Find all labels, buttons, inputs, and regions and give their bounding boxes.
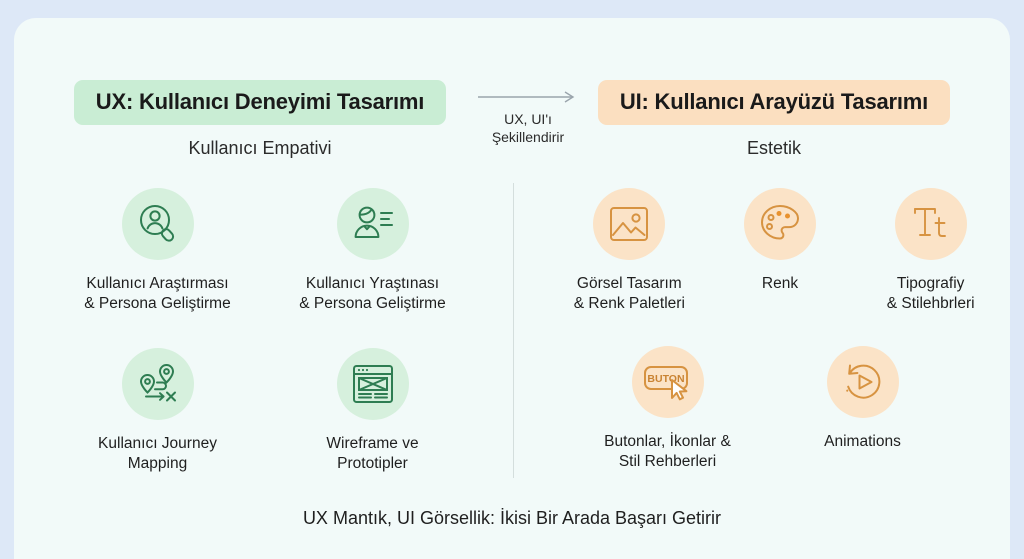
footer-tagline: UX Mantık, UI Görsellik: İkisi Bir Arada… xyxy=(14,508,1010,529)
journey-map-icon xyxy=(122,348,194,420)
ux-items-row-1: Kullanıcı Araştırması & Persona Geliştir… xyxy=(50,188,480,314)
ux-column-header: UX: Kullanıcı Deneyimi Tasarımı Kullanıc… xyxy=(50,80,470,159)
user-search-icon xyxy=(122,188,194,260)
ui-item-typography[interactable]: Tipografiy & Stilehbrleri xyxy=(855,188,1006,314)
arrow-right-icon xyxy=(469,90,587,104)
ux-badge: UX: Kullanıcı Deneyimi Tasarımı xyxy=(74,80,446,125)
ux-subtitle: Kullanıcı Empativi xyxy=(50,138,470,159)
ux-item-user-research[interactable]: Kullanıcı Araştırması & Persona Geliştir… xyxy=(50,188,265,314)
animation-icon xyxy=(827,346,899,418)
ui-item-buttons[interactable]: BUTON Butonlar, İkonlar & Stil Rehberler… xyxy=(570,346,765,472)
image-icon xyxy=(593,188,665,260)
item-label: Görsel Tasarım & Renk Paletleri xyxy=(558,274,701,314)
ux-item-wireframe[interactable]: Wireframe ve Prototipler xyxy=(265,348,480,474)
ui-badge: UI: Kullanıcı Arayüzü Tasarımı xyxy=(598,80,950,125)
item-label: Kullanıcı Journey Mapping xyxy=(54,434,261,474)
column-divider xyxy=(513,183,514,478)
item-label: Tipografiy & Stilehbrleri xyxy=(859,274,1002,314)
ui-items-row-1: Görsel Tasarım & Renk Paletleri Renk xyxy=(554,188,1006,314)
ui-items-row-2: BUTON Butonlar, İkonlar & Stil Rehberler… xyxy=(570,346,960,472)
ui-item-visual-design[interactable]: Görsel Tasarım & Renk Paletleri xyxy=(554,188,705,314)
ui-item-color[interactable]: Renk xyxy=(705,188,856,314)
button-cursor-icon: BUTON xyxy=(632,346,704,418)
item-label: Animations xyxy=(769,432,956,452)
palette-icon xyxy=(744,188,816,260)
wireframe-icon xyxy=(337,348,409,420)
ui-column-header: UI: Kullanıcı Arayüzü Tasarımı Estetik xyxy=(574,80,974,159)
item-label: Renk xyxy=(709,274,852,294)
ux-item-journey-mapping[interactable]: Kullanıcı Journey Mapping xyxy=(50,348,265,474)
ux-items-row-2: Kullanıcı Journey Mapping xyxy=(50,348,480,474)
item-label: Wireframe ve Prototipler xyxy=(269,434,476,474)
connector: UX, UI'ı Şekillendirir xyxy=(469,90,587,146)
button-icon-text: BUTON xyxy=(647,373,684,385)
ui-subtitle: Estetik xyxy=(574,138,974,159)
ux-item-persona[interactable]: Kullanıcı Yraştınası & Persona Geliştirm… xyxy=(265,188,480,314)
typography-icon xyxy=(895,188,967,260)
item-label: Kullanıcı Araştırması & Persona Geliştir… xyxy=(54,274,261,314)
connector-label: UX, UI'ı Şekillendirir xyxy=(469,110,587,146)
infographic-card: UX: Kullanıcı Deneyimi Tasarımı Kullanıc… xyxy=(14,18,1010,559)
item-label: Butonlar, İkonlar & Stil Rehberleri xyxy=(574,432,761,472)
ui-item-animations[interactable]: Animations xyxy=(765,346,960,472)
user-profile-icon xyxy=(337,188,409,260)
item-label: Kullanıcı Yraştınası & Persona Geliştirm… xyxy=(269,274,476,314)
